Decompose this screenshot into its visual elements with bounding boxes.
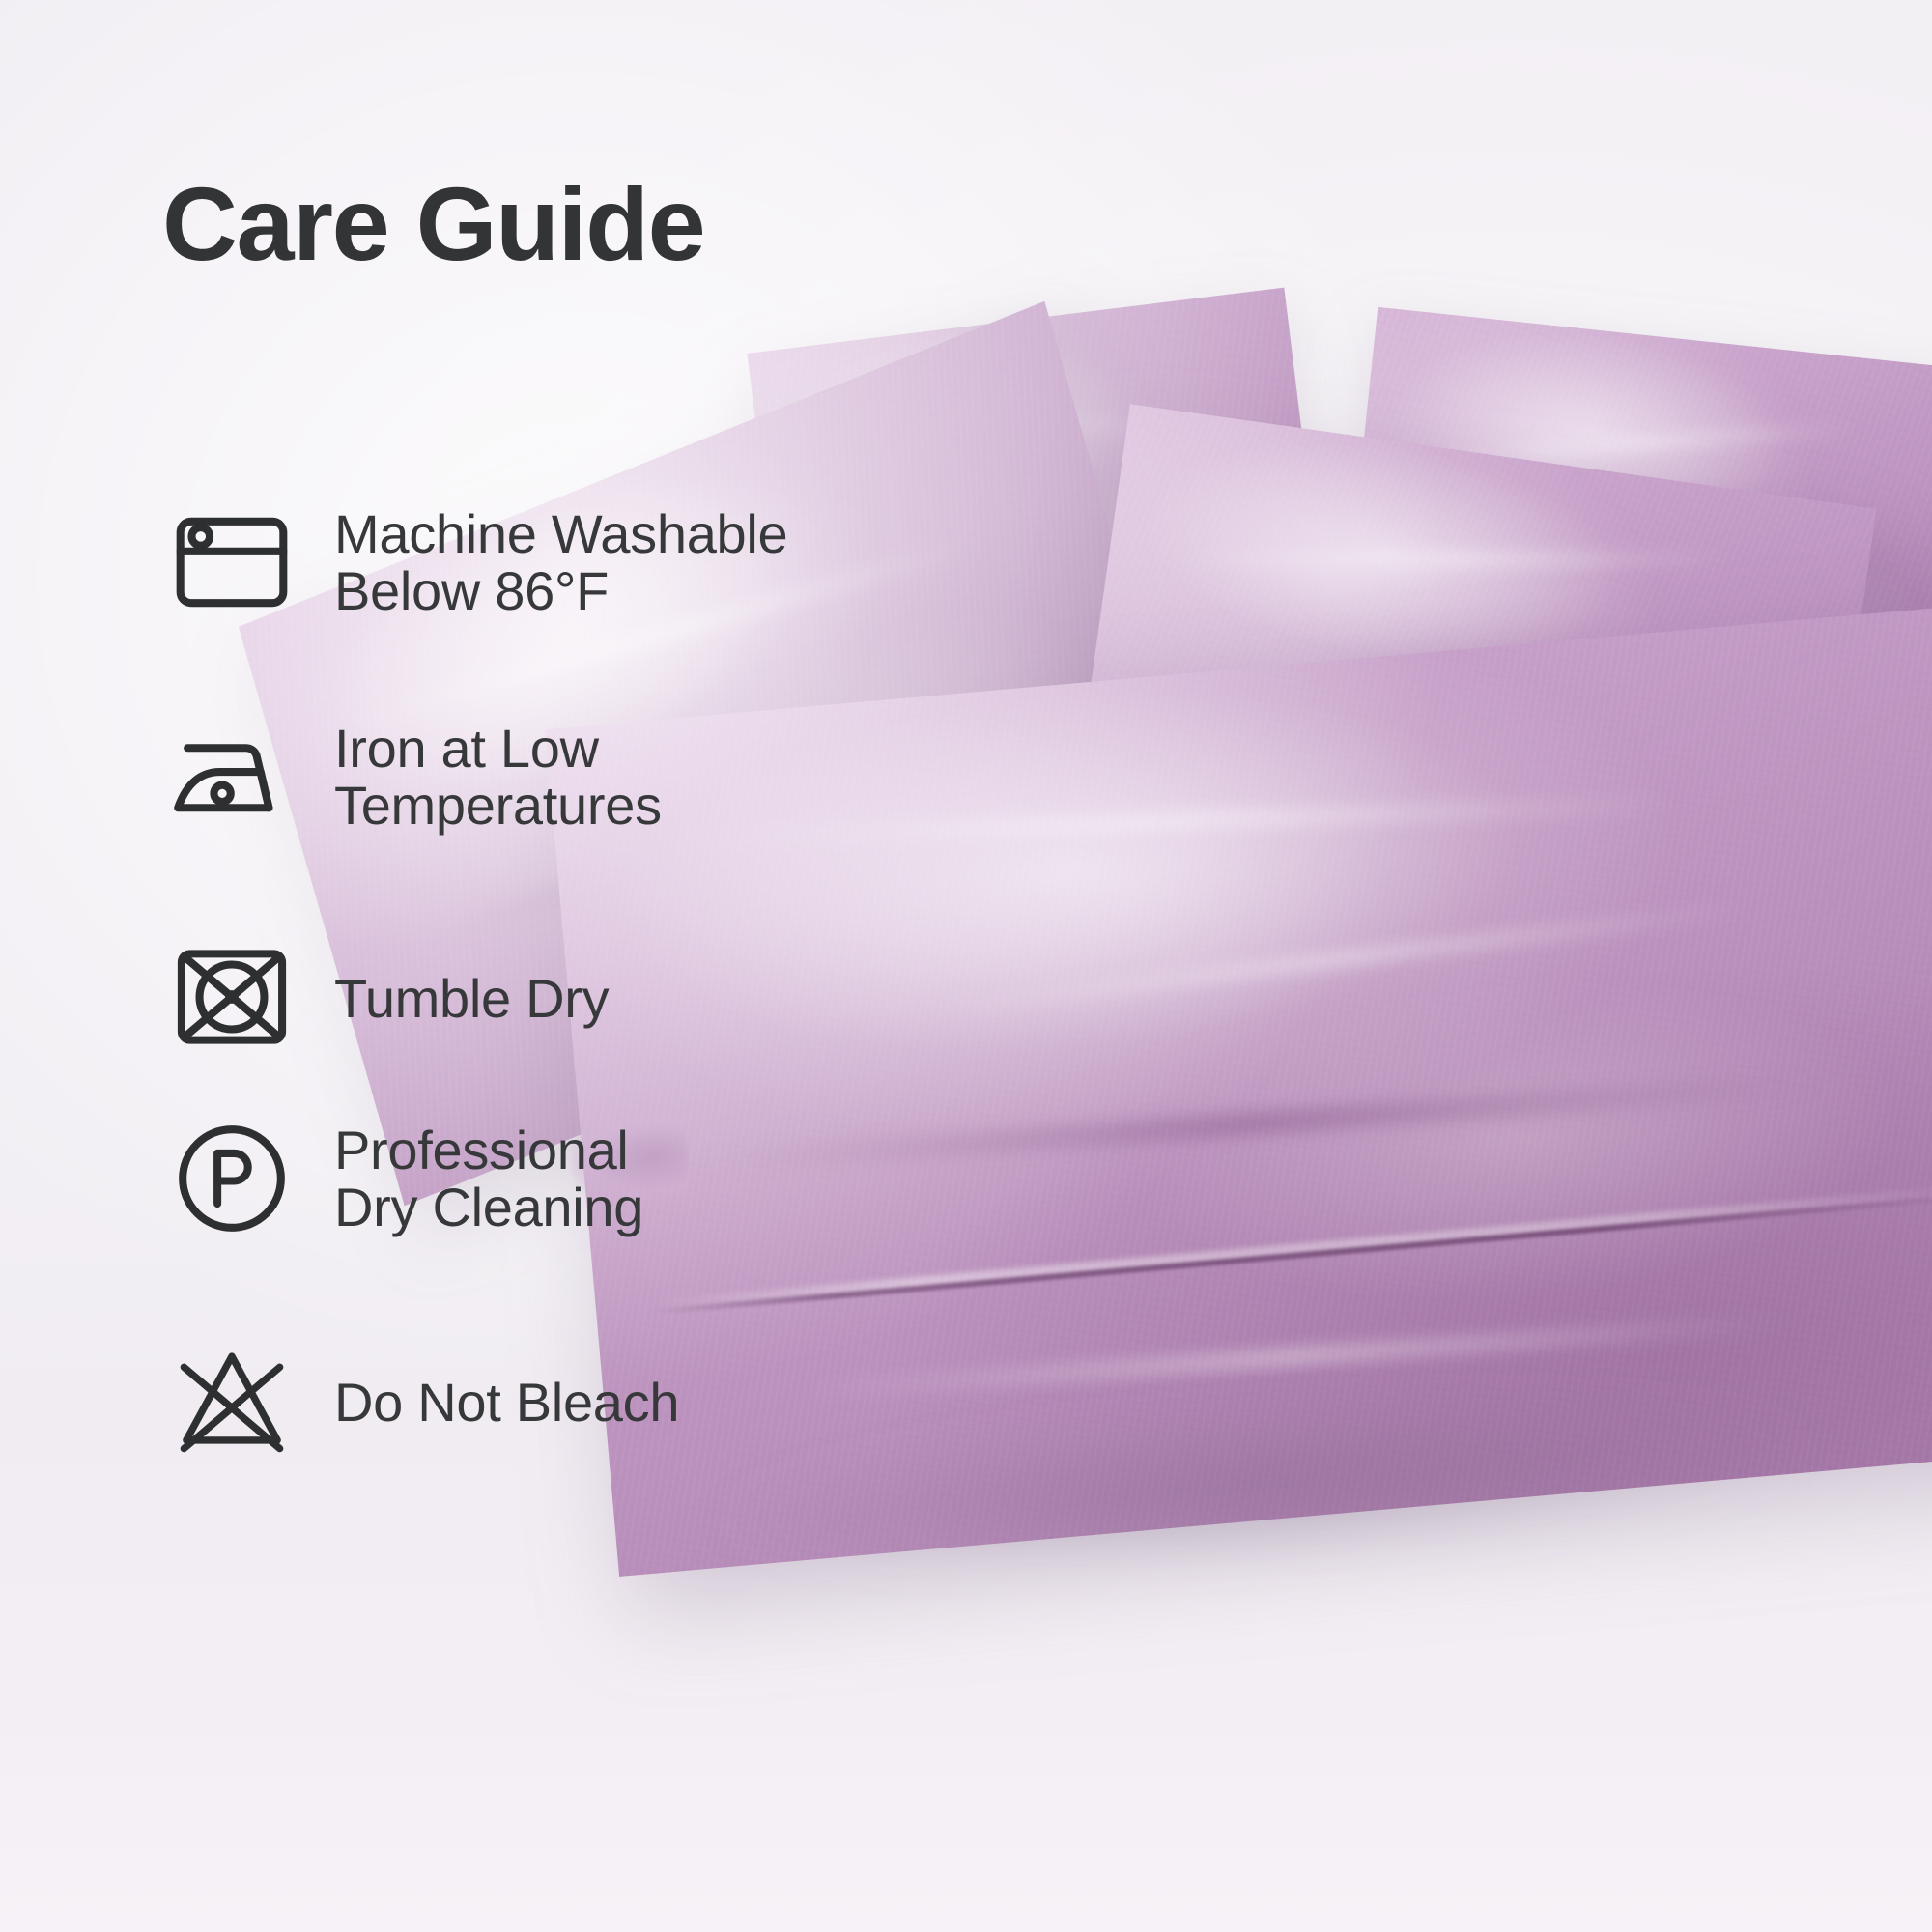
care-item-label: Do Not Bleach xyxy=(334,1374,679,1431)
care-item-label: Iron at Low Temperatures xyxy=(334,720,662,835)
care-guide-overlay: Care Guide Machine Washable Below 86°F xyxy=(0,0,1932,1932)
care-item-label: Machine Washable Below 86°F xyxy=(334,505,787,620)
care-item-tumble-dry: Tumble Dry xyxy=(172,937,609,1057)
care-item-label: Tumble Dry xyxy=(334,970,609,1027)
professional-dry-cleaning-icon xyxy=(172,1119,292,1238)
care-item-machine-wash: Machine Washable Below 86°F xyxy=(172,502,787,622)
iron-low-heat-icon xyxy=(172,717,292,837)
page-title: Care Guide xyxy=(162,172,704,276)
do-not-bleach-icon xyxy=(172,1341,292,1461)
care-item-dry-cleaning: Professional Dry Cleaning xyxy=(172,1119,643,1238)
care-item-iron: Iron at Low Temperatures xyxy=(172,717,662,837)
washing-machine-icon xyxy=(172,502,292,622)
tumble-dry-icon xyxy=(172,937,292,1057)
care-item-do-not-bleach: Do Not Bleach xyxy=(172,1341,679,1461)
care-item-label: Professional Dry Cleaning xyxy=(334,1122,643,1236)
infographic-canvas: Care Guide Machine Washable Below 86°F xyxy=(0,0,1932,1932)
